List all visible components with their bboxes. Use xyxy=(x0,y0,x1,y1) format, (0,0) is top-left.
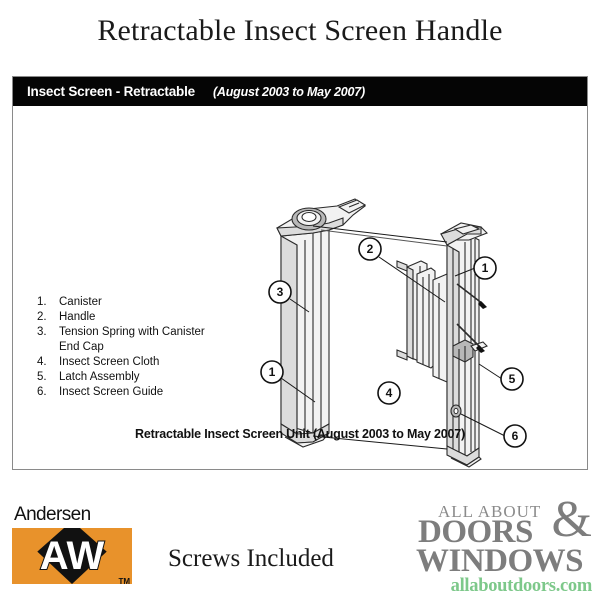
andersen-initials: AW xyxy=(40,534,105,578)
diagram-panel: Insect Screen - Retractable (August 2003… xyxy=(12,76,588,470)
all-about-doors-logo: ALL ABOUT & DOORS WINDOWS allaboutdoors.… xyxy=(386,498,594,594)
callout-number: 3 xyxy=(277,285,284,299)
callout-1-right: 1 xyxy=(474,257,496,279)
callout-number: 4 xyxy=(386,386,393,400)
aad-ampersand: & xyxy=(552,494,592,546)
andersen-chevron-icon: AW xyxy=(12,528,132,584)
canister-tube-left xyxy=(281,219,329,447)
exploded-assembly-drawing: 3 2 1 1 4 5 6 xyxy=(13,106,587,469)
insect-screen-guide xyxy=(451,405,461,417)
callout-number: 5 xyxy=(509,372,516,386)
diagram-caption: Retractable Insect Screen Unit (August 2… xyxy=(13,427,587,441)
callout-number: 2 xyxy=(367,242,374,256)
callout-5: 5 xyxy=(501,368,523,390)
callout-number: 1 xyxy=(269,365,276,379)
callout-1-left: 1 xyxy=(261,361,283,383)
trademark-symbol: TM xyxy=(118,577,130,586)
callout-3: 3 xyxy=(269,281,291,303)
aad-windows-line: WINDOWS xyxy=(416,545,583,578)
callout-2: 2 xyxy=(359,238,381,260)
page-title: Retractable Insect Screen Handle xyxy=(0,14,600,48)
aad-website-url: allaboutdoors.com xyxy=(451,576,592,597)
andersen-wordmark: Andersen xyxy=(14,504,91,526)
callout-4: 4 xyxy=(378,382,400,404)
diagram-header-title: Insect Screen - Retractable xyxy=(27,84,195,99)
screws-included-text: Screws Included xyxy=(168,545,334,573)
callout-number: 1 xyxy=(482,261,489,275)
handle-part xyxy=(397,261,451,382)
diagram-header-date-range: (August 2003 to May 2007) xyxy=(213,85,365,99)
andersen-logo: Andersen AW TM xyxy=(12,504,132,584)
diagram-header-bar: Insect Screen - Retractable (August 2003… xyxy=(13,77,587,106)
